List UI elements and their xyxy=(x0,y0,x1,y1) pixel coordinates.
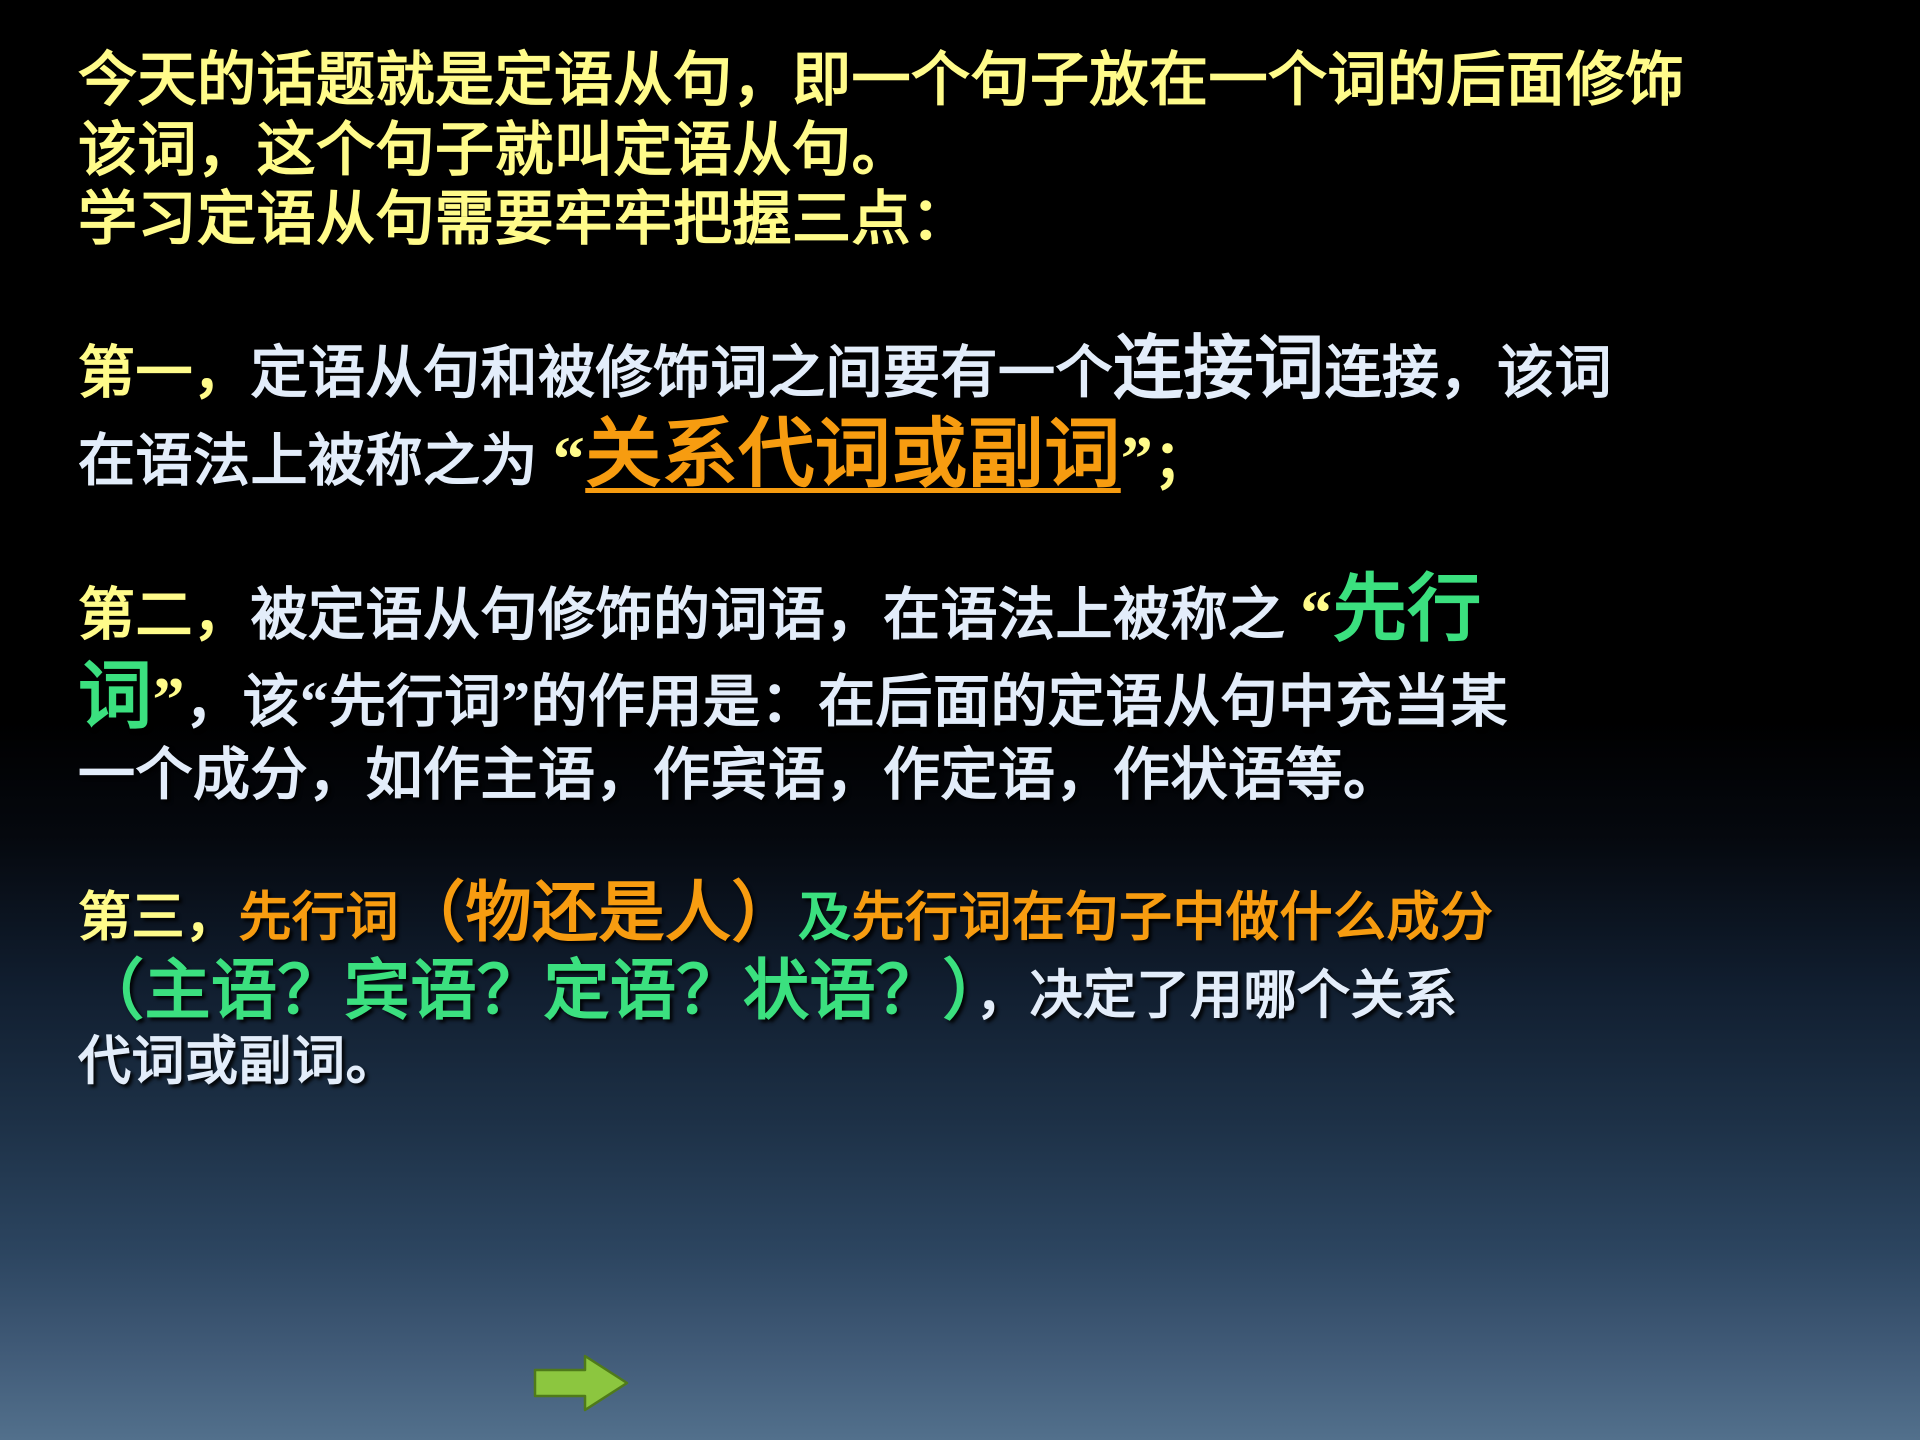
slide-canvas: 今天的话题就是定语从句，即一个句子放在一个词的后面修饰该词，这个句子就叫定语从句… xyxy=(0,0,1920,1440)
point-two-emphasis-green-b: 词 xyxy=(78,656,153,738)
point-two-quote-close: ” xyxy=(153,664,186,735)
point-three-orange-paren: （物还是人） xyxy=(399,877,798,950)
point-two-quote-open: “ xyxy=(1300,577,1333,648)
point-three-orange-a: 先行词 xyxy=(239,889,400,947)
point-two-marker: 第二， xyxy=(78,584,251,647)
point-two-text-b: ，该 xyxy=(185,671,300,734)
point-three-paragraph: 第三，先行词（物还是人）及先行词在句子中做什么成分（主语？宾语？定语？状语？），… xyxy=(78,875,1858,1093)
spacer-after-point-one xyxy=(78,501,1858,567)
arrow-right-icon xyxy=(533,1352,629,1414)
point-one-text-c: 在语法上被称之为 xyxy=(78,430,553,493)
intro-line-3: 学习定语从句需要牢牢把握三点： xyxy=(78,186,971,252)
point-two-text-d: 一个成分，如作主语，作宾语，作定语，作状语等。 xyxy=(78,744,1401,807)
point-three-green-a: 及 xyxy=(798,889,852,947)
point-one-quote-close: ” xyxy=(1121,423,1154,494)
point-one-text-a: 定语从句和被修饰词之间要有一个 xyxy=(251,342,1114,405)
point-two-emphasis-green-a: 先行 xyxy=(1333,569,1482,651)
point-two-inner-term: 先行词 xyxy=(329,671,502,734)
point-one-quote-open: “ xyxy=(553,423,586,494)
intro-line-2: 该词，这个句子就叫定语从句。 xyxy=(78,117,911,183)
point-one-marker: 第一， xyxy=(78,342,251,405)
intro-line-1: 今天的话题就是定语从句，即一个句子放在一个词的后面修饰 xyxy=(78,47,1685,113)
spacer-after-point-two xyxy=(78,809,1858,875)
point-three-green-paren: （主语？宾语？定语？状语？） xyxy=(78,955,976,1028)
point-three-orange-b: 先行词在句子中做什么成分 xyxy=(852,889,1494,947)
slide-content: 今天的话题就是定语从句，即一个句子放在一个词的后面修饰该词，这个句子就叫定语从句… xyxy=(78,46,1858,1093)
intro-paragraph: 今天的话题就是定语从句，即一个句子放在一个词的后面修饰该词，这个句子就叫定语从句… xyxy=(78,46,1858,255)
point-two-text-a: 被定语从句修饰的词语，在语法上被称之 xyxy=(251,584,1301,647)
point-two-paragraph: 第二，被定语从句修饰的词语，在语法上被称之 “先行词”，该“先行词”的作用是：在… xyxy=(78,567,1858,809)
point-three-text-b: 代词或副词。 xyxy=(78,1033,399,1091)
spacer-after-intro xyxy=(78,255,1858,329)
point-three-marker: 第三， xyxy=(78,889,239,947)
point-one-text-b: 连接，该词 xyxy=(1325,342,1613,405)
point-three-text-a: ，决定了用哪个关系 xyxy=(976,967,1458,1025)
point-two-text-c: 的作用是：在后面的定语从句中充当某 xyxy=(531,671,1509,734)
point-one-emphasis-connector: 连接词 xyxy=(1113,331,1325,408)
point-one-ending: ； xyxy=(1153,430,1211,493)
point-one-emphasis-orange: 关系代词或副词 xyxy=(585,413,1121,497)
point-two-quote-close-2: ” xyxy=(502,671,531,734)
point-two-quote-open-2: “ xyxy=(300,671,329,734)
point-one-paragraph: 第一，定语从句和被修饰词之间要有一个连接词连接，该词在语法上被称之为 “关系代词… xyxy=(78,329,1858,501)
